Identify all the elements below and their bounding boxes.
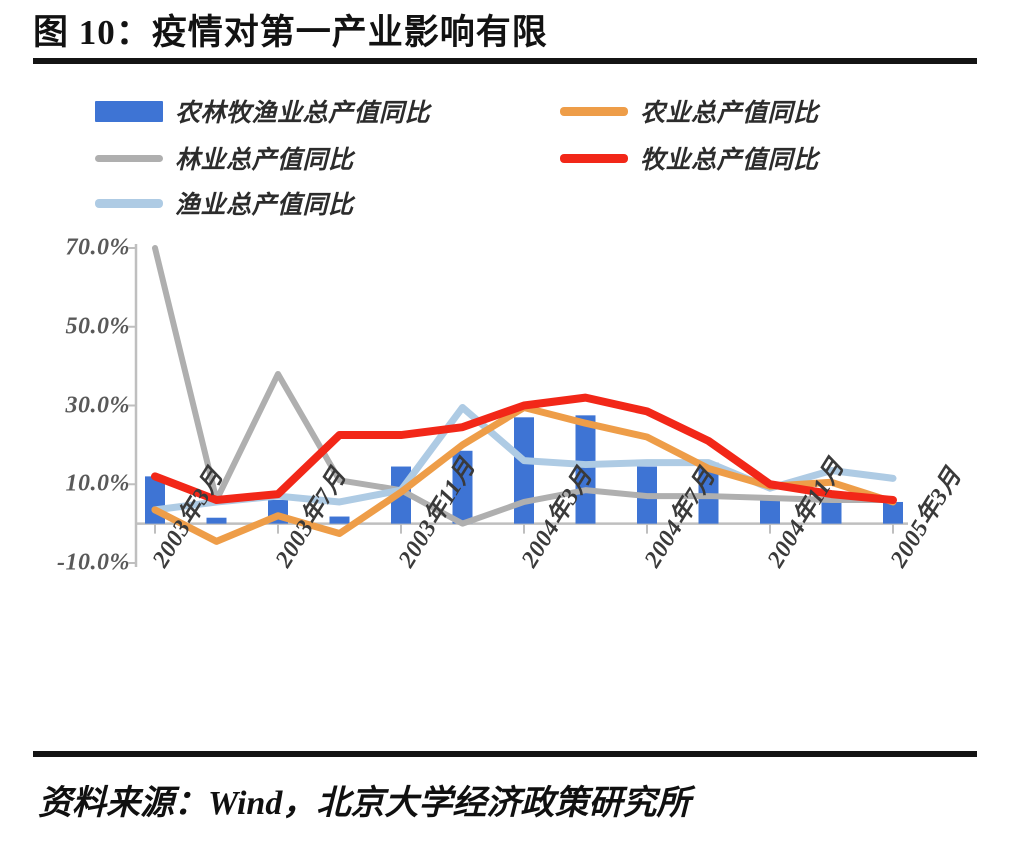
legend-item-nongye: 农业总产值同比: [560, 96, 819, 126]
figure-container: 图 10：疫情对第一产业影响有限 农林牧渔业总产值同比 农业总产值同比 林业总产…: [0, 0, 1010, 852]
legend-label: 牧业总产值同比: [640, 140, 819, 176]
chart-bar: [330, 517, 350, 524]
legend-item-yuye: 渔业总产值同比: [95, 188, 354, 218]
legend-swatch-bar-icon: [95, 101, 163, 122]
legend-swatch-line-icon: [560, 154, 628, 163]
legend-label: 林业总产值同比: [175, 140, 354, 176]
chart-canvas: [0, 222, 1010, 722]
figure-source: 资料来源：Wind，北京大学经济政策研究所: [38, 778, 978, 830]
legend-item-nonglinmuyu: 农林牧渔业总产值同比: [95, 96, 430, 126]
chart-plot-area: 70.0%50.0%30.0%10.0%-10.0% 2003年3月2003年7…: [0, 222, 1010, 722]
divider-bottom: [33, 751, 977, 757]
legend-swatch-line-icon: [95, 199, 163, 208]
legend-swatch-line-icon: [560, 107, 628, 116]
chart-bar: [514, 417, 534, 523]
divider-top: [33, 58, 977, 64]
legend-label: 渔业总产值同比: [175, 185, 354, 221]
legend-swatch-line-icon: [95, 155, 163, 162]
legend-item-linye: 林业总产值同比: [95, 143, 354, 173]
chart-bar: [207, 518, 227, 524]
legend-label: 农林牧渔业总产值同比: [175, 93, 430, 129]
legend-item-muye: 牧业总产值同比: [560, 143, 819, 173]
page-title: 图 10：疫情对第一产业影响有限: [33, 10, 933, 56]
legend-label: 农业总产值同比: [640, 93, 819, 129]
chart-legend: 农林牧渔业总产值同比 农业总产值同比 林业总产值同比 牧业总产值同比 渔业总产值…: [95, 96, 925, 216]
